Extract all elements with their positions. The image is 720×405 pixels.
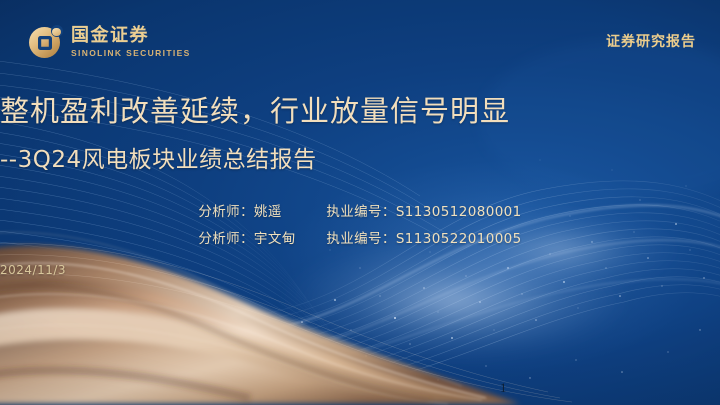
sinolink-ring-mark-icon <box>29 26 62 59</box>
analyst-license-code: 执业编号：S1130522010005 <box>326 227 521 247</box>
page-number: 1 <box>500 380 507 396</box>
presentation-cover-slide: 国金证券 SINOLINK SECURITIES 证券研究报告 整机盈利改善延续… <box>0 0 720 405</box>
analyst-license-code: 执业编号：S1130512080001 <box>326 200 521 220</box>
analyst-list: 分析师：姚遥 执业编号：S1130512080001 分析师：宇文甸 执业编号：… <box>0 200 720 254</box>
analyst-row: 分析师：姚遥 执业编号：S1130512080001 <box>0 200 720 220</box>
company-logo: 国金证券 SINOLINK SECURITIES <box>29 26 191 59</box>
report-type-label: 证券研究报告 <box>606 31 696 51</box>
logo-chinese-name: 国金证券 <box>71 27 191 45</box>
report-date: 2024/11/3 <box>0 263 720 277</box>
logo-english-name: SINOLINK SECURITIES <box>71 49 191 58</box>
analyst-name: 分析师：宇文甸 <box>198 227 326 247</box>
analyst-name: 分析师：姚遥 <box>198 200 326 220</box>
page-subtitle: --3Q24风电板块业绩总结报告 <box>0 140 720 174</box>
page-title: 整机盈利改善延续，行业放量信号明显 <box>0 88 720 130</box>
analyst-row: 分析师：宇文甸 执业编号：S1130522010005 <box>0 227 720 247</box>
